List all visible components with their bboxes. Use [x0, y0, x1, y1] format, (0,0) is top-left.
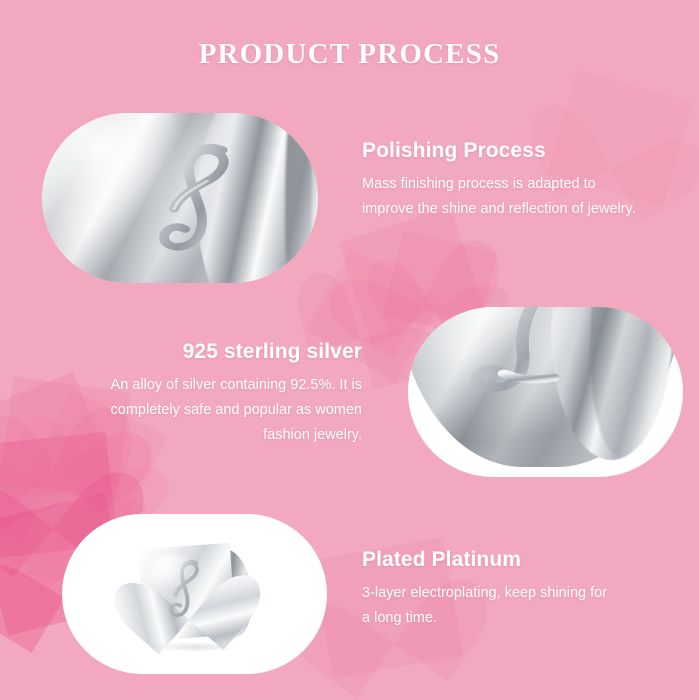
section-heading-sterling-silver: 925 sterling silver	[52, 340, 362, 364]
section-body-sterling-silver: An alloy of silver containing 92.5%. It …	[52, 373, 362, 448]
body-line: 3-layer electroplating, keep shining for	[362, 585, 607, 601]
body-line: An alloy of silver containing 92.5%. It …	[111, 377, 362, 393]
section-plated-platinum-text: Plated Platinum 3-layer electroplating, …	[362, 548, 682, 631]
photo-heart-point-closeup	[408, 307, 683, 477]
product-photo-sterling-silver	[408, 307, 683, 477]
section-heading-polishing: Polishing Process	[362, 139, 682, 163]
photo-heart-face-closeup	[42, 113, 318, 283]
section-polishing-text: Polishing Process Mass finishing process…	[362, 139, 682, 222]
section-heading-plated-platinum: Plated Platinum	[362, 548, 682, 572]
bead-drop-shadow	[152, 642, 238, 652]
product-photo-polishing	[42, 113, 318, 283]
section-body-plated-platinum: 3-layer electroplating, keep shining for…	[362, 581, 682, 631]
page-title: PRODUCT PROCESS	[0, 38, 699, 71]
product-photo-plated-platinum	[62, 514, 327, 674]
photo-full-heart-bead	[62, 514, 327, 674]
section-sterling-silver-text: 925 sterling silver An alloy of silver c…	[52, 340, 362, 448]
engraved-letter-l-tail-icon	[452, 307, 579, 406]
section-body-polishing: Mass finishing process is adapted to imp…	[362, 172, 682, 222]
product-process-infographic: PRODUCT PROCESS	[0, 0, 699, 700]
body-line: improve the shine and reflection of jewe…	[362, 201, 636, 217]
engraved-letter-l-icon	[141, 137, 251, 259]
body-line: a long time.	[362, 610, 437, 626]
heart-charm-bead	[135, 540, 255, 648]
body-line: Mass finishing process is adapted to	[362, 176, 596, 192]
heart-side-edge-highlight	[285, 113, 313, 283]
body-line: completely safe and popular as women	[111, 402, 362, 418]
body-line: fashion jewelry.	[263, 427, 362, 443]
engraved-letter-l-small-icon	[161, 556, 209, 622]
